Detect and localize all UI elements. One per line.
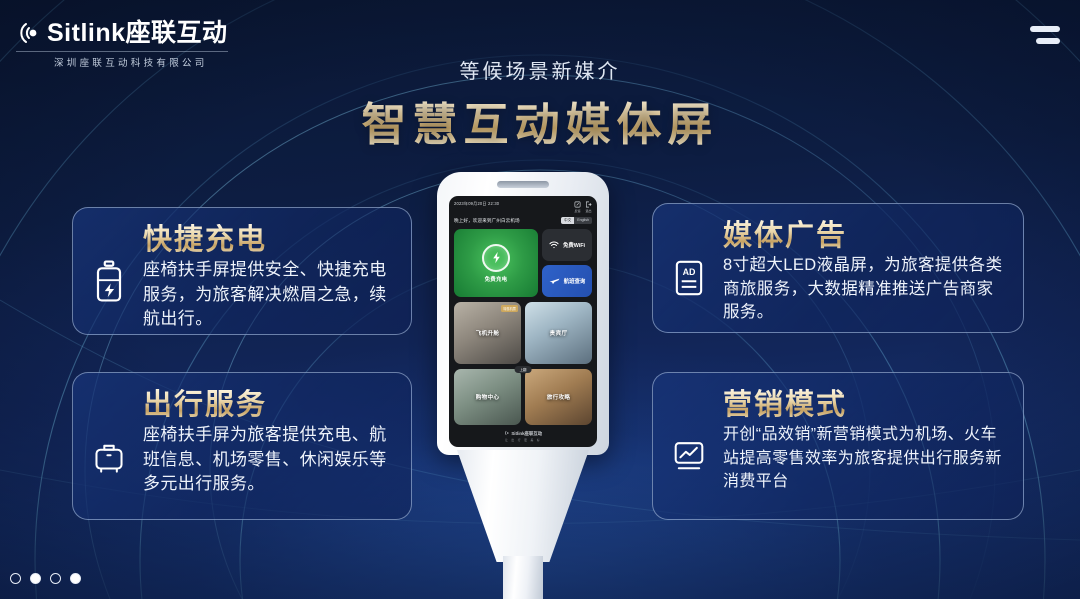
exit-icon[interactable]: 退出	[585, 201, 592, 213]
device-stem	[503, 556, 543, 599]
card-body: 座椅扶手屏为旅客提供充电、航班信息、机场零售、休闲娱乐等多元出行服务。	[143, 423, 395, 495]
tile-label: 免费充电	[485, 275, 508, 283]
footer-wifi-icon	[504, 430, 510, 437]
tile-free-charging[interactable]: 免费充电	[454, 229, 538, 297]
speaker-slot	[497, 181, 549, 188]
photo-label: 飞机升舱	[454, 329, 521, 337]
pagination-dot-1[interactable]	[10, 573, 21, 584]
tile-flight-search[interactable]: 航班查询	[542, 265, 592, 297]
device-neck	[457, 450, 589, 562]
svg-text:AD: AD	[683, 267, 696, 277]
slide-canvas: Sitlink座联互动 深圳座联互动科技有限公司 等候场景新媒介 智慧互动媒体屏…	[0, 0, 1080, 599]
device-screen[interactable]: 2023年09月20日 22:30 反馈	[449, 196, 597, 447]
chart-monitor-icon	[667, 389, 711, 503]
footer-brand: Sitlink座联互动	[511, 431, 542, 437]
pagination-dots[interactable]	[10, 573, 81, 584]
feature-card-marketing[interactable]: 营销模式 开创“品效销”新营销模式为机场、火车站提高零售效率为旅客提供出行服务新…	[652, 372, 1024, 520]
footer-slogan: 让 出 行 更 美 好	[505, 438, 541, 442]
language-active[interactable]: 中文	[561, 217, 574, 224]
photo-tile[interactable]: 特惠机票 飞机升舱	[454, 302, 521, 364]
feature-card-travel[interactable]: 出行服务 座椅扶手屏为旅客提供充电、航班信息、机场零售、休闲娱乐等多元出行服务。	[72, 372, 412, 520]
photo-tile[interactable]: 购物中心	[454, 369, 521, 425]
edit-icon[interactable]: 反馈	[574, 201, 581, 213]
scroll-up-pill[interactable]: 上翻	[515, 366, 532, 373]
slide-subtitle: 等候场景新媒介	[0, 55, 1080, 84]
tool-label: 反馈	[574, 209, 580, 213]
screen-datetime: 2023年09月20日 22:30	[454, 201, 499, 207]
feature-card-ads[interactable]: AD 媒体广告 8寸超大LED液晶屏，为旅客提供各类商旅服务，大数据精准推送广告…	[652, 203, 1024, 333]
suitcase-icon	[87, 389, 131, 503]
card-body: 开创“品效销”新营销模式为机场、火车站提高零售效率为旅客提供出行服务新消费平台	[723, 423, 1007, 493]
tool-label: 退出	[585, 209, 591, 213]
card-body: 8寸超大LED液晶屏，为旅客提供各类商旅服务，大数据精准推送广告商家服务。	[723, 254, 1007, 324]
kiosk-device: 2023年09月20日 22:30 反馈	[437, 172, 609, 599]
pagination-dot-2[interactable]	[30, 573, 41, 584]
language-inactive[interactable]: English	[574, 217, 592, 224]
photo-label: 旅行攻略	[525, 393, 592, 401]
photo-tile[interactable]: 贵宾厅	[525, 302, 592, 364]
card-title: 快捷充电	[143, 224, 395, 256]
tile-label: 免费WiFi	[563, 241, 585, 249]
battery-charging-icon	[87, 224, 131, 318]
tile-label: 航班查询	[564, 277, 586, 285]
charging-bolt-icon	[482, 244, 510, 272]
ad-document-icon: AD	[667, 220, 711, 316]
page-title: 智慧互动媒体屏	[0, 88, 1080, 153]
card-body: 座椅扶手屏提供安全、快捷充电服务，为旅客解决燃眉之急，续航出行。	[143, 258, 395, 330]
airplane-icon	[549, 272, 560, 290]
tile-free-wifi[interactable]: 免费WiFi	[542, 229, 592, 261]
photo-label: 贵宾厅	[525, 329, 592, 337]
screen-greeting: 晚上好，欢迎来到广州白云机场	[454, 218, 520, 224]
photo-tile[interactable]: 旅行攻略	[525, 369, 592, 425]
screen-footer: Sitlink座联互动 让 出 行 更 美 好	[454, 426, 592, 447]
photo-label: 购物中心	[454, 393, 521, 401]
language-toggle[interactable]: 中文 English	[561, 217, 592, 224]
pagination-dot-4[interactable]	[70, 573, 81, 584]
hamburger-menu-icon[interactable]	[1030, 26, 1060, 44]
wifi-signal-icon	[14, 18, 44, 48]
feature-card-charging[interactable]: 快捷充电 座椅扶手屏提供安全、快捷充电服务，为旅客解决燃眉之急，续航出行。	[72, 207, 412, 335]
device-head: 2023年09月20日 22:30 反馈	[437, 172, 609, 455]
brand-name: Sitlink座联互动	[47, 21, 228, 46]
card-title: 媒体广告	[723, 220, 1007, 252]
pagination-dot-3[interactable]	[50, 573, 61, 584]
wifi-icon	[549, 236, 559, 254]
card-title: 营销模式	[723, 389, 1007, 421]
photo-tag: 特惠机票	[501, 305, 518, 312]
card-title: 出行服务	[143, 389, 395, 421]
